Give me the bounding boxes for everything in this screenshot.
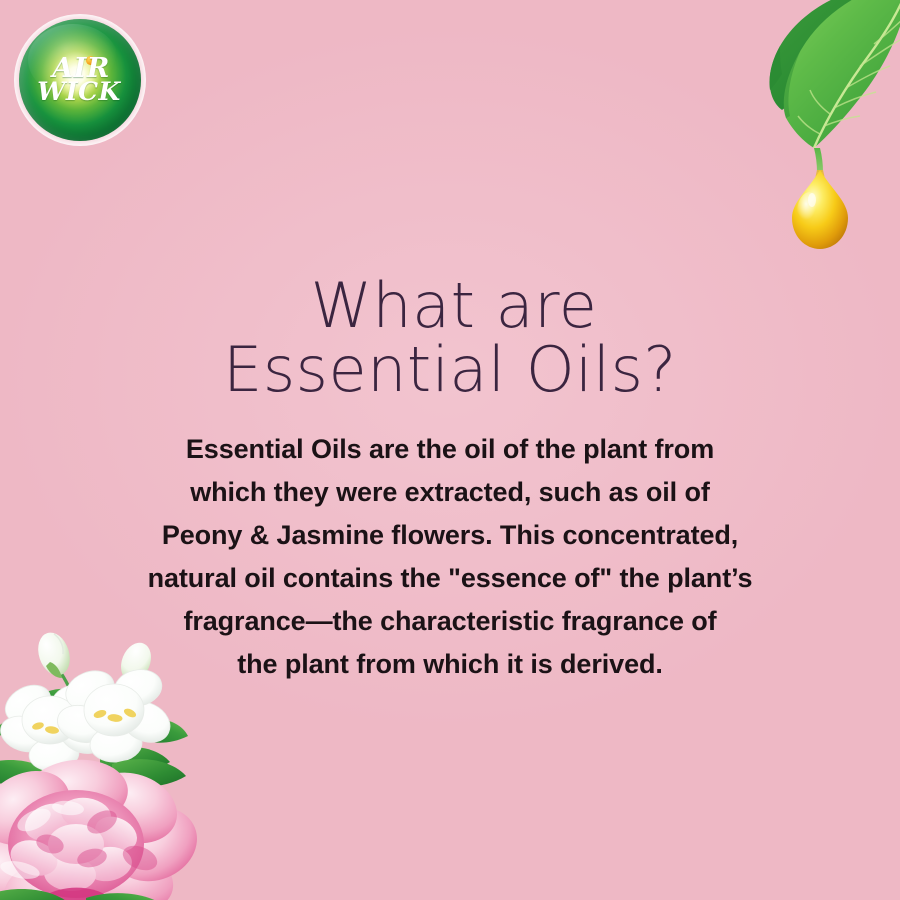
leaf-and-oil-drop [720,0,900,254]
flower-cluster [0,558,240,900]
body-line-1: Essential Oils are the oil of the plant … [60,428,840,471]
flowers-svg [0,558,240,900]
poster-canvas: AIR WICK [0,0,900,900]
title-line-2: Essential Oils? [0,338,900,402]
logo-wordmark: AIR WICK [14,14,146,146]
jasmine-bud-left [33,628,75,679]
oil-stem [814,148,823,172]
air-wick-logo[interactable]: AIR WICK [14,14,146,146]
oil-drop-spec [808,193,816,207]
body-line-2: which they were extracted, such as oil o… [60,471,840,514]
leaf-oil-drop-svg [720,0,900,254]
page-title: What are Essential Oils? [0,274,900,403]
title-line-1: What are [0,274,900,338]
body-line-3: Peony & Jasmine flowers. This concentrat… [60,514,840,557]
logo-line-wick: WICK [37,81,120,103]
